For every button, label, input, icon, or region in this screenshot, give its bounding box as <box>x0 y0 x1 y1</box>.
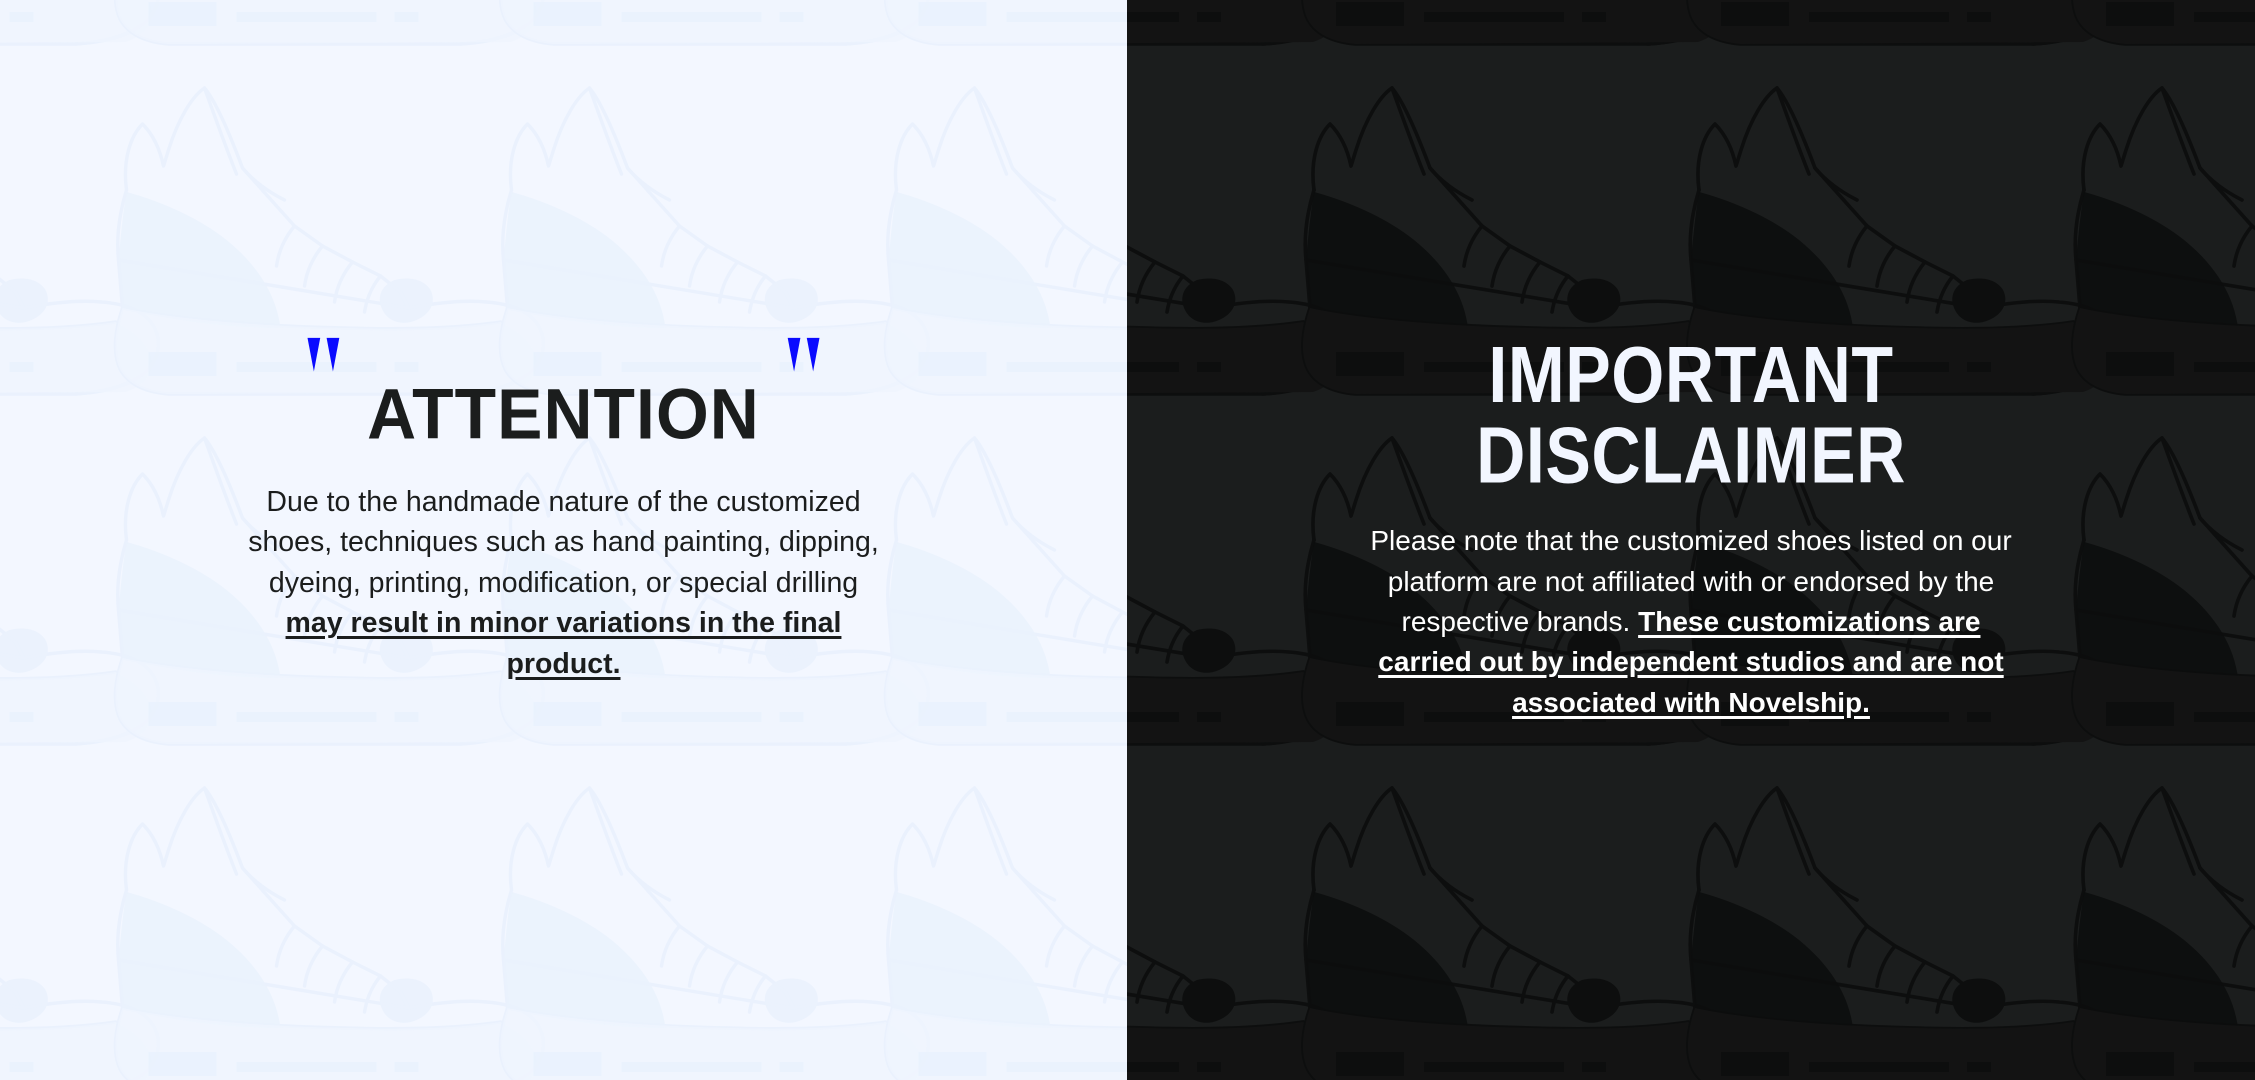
attention-body: Due to the handmade nature of the custom… <box>244 482 884 684</box>
disclaimer-content: IMPORTANT DISCLAIMER Please note that th… <box>1127 353 2255 723</box>
attention-content: ATTENTION Due to the handmade nature of … <box>0 382 1127 684</box>
attention-heading-text: ATTENTION <box>367 378 760 450</box>
attention-panel: ATTENTION Due to the handmade nature of … <box>0 0 1127 1080</box>
disclaimer-heading-line-1: IMPORTANT <box>1214 335 2169 416</box>
disclaimer-heading-line-2: DISCLAIMER <box>1214 416 2169 497</box>
attention-body-regular: Due to the handmade nature of the custom… <box>248 486 879 599</box>
attention-heading: ATTENTION <box>93 378 1033 450</box>
disclaimer-banner: ATTENTION Due to the handmade nature of … <box>0 0 2255 1080</box>
disclaimer-body: Please note that the customized shoes li… <box>1361 521 2021 723</box>
double-exclamation-icon-right <box>787 376 820 448</box>
disclaimer-panel: IMPORTANT DISCLAIMER Please note that th… <box>1127 0 2255 1080</box>
attention-body-emphasis: may result in minor variations in the fi… <box>286 607 842 679</box>
disclaimer-heading: IMPORTANT DISCLAIMER <box>1214 335 2169 497</box>
double-exclamation-icon-left <box>307 376 340 448</box>
